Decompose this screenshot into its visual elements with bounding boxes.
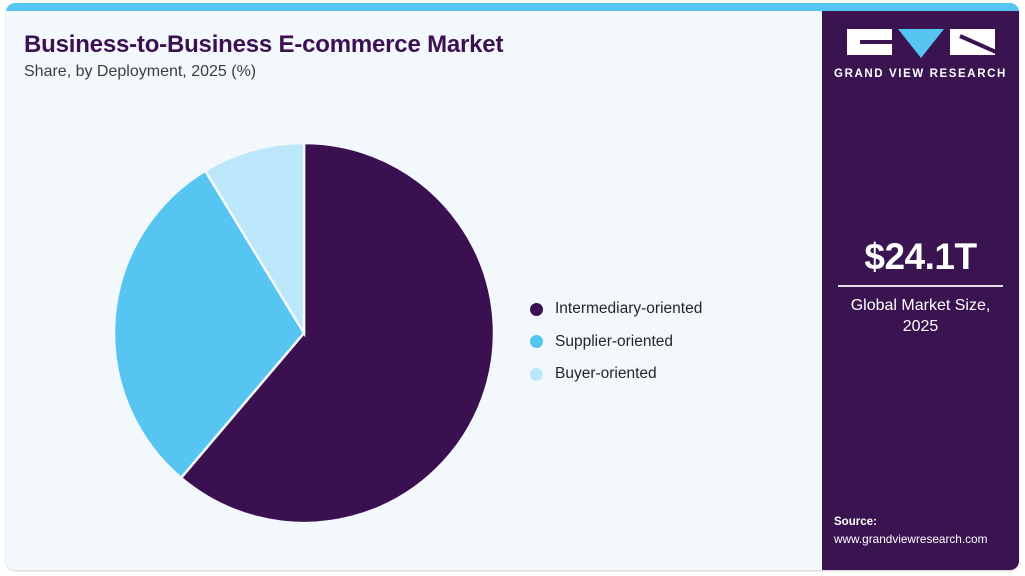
top-accent-bar <box>6 3 1019 11</box>
chart-main-area: Business-to-Business E-commerce Market S… <box>6 11 822 570</box>
chart-legend: Intermediary-oriented Supplier-oriented … <box>530 293 810 391</box>
legend-swatch-icon-supplier-oriented <box>530 335 543 348</box>
logo-r-icon <box>950 29 995 55</box>
legend-label-buyer-oriented: Buyer-oriented <box>555 365 657 383</box>
legend-item-intermediary-oriented[interactable]: Intermediary-oriented <box>530 293 810 326</box>
page-title: Business-to-Business E-commerce Market <box>24 31 503 59</box>
legend-label-intermediary-oriented: Intermediary-oriented <box>555 300 702 318</box>
brand-logo: GRAND VIEW RESEARCH <box>822 29 1019 80</box>
logo-v-triangle-icon <box>898 29 944 58</box>
legend-label-supplier-oriented: Supplier-oriented <box>555 333 673 351</box>
brand-side-panel: GRAND VIEW RESEARCH $24.1T Global Market… <box>822 11 1019 570</box>
stat-divider <box>838 285 1003 287</box>
logo-g-icon <box>847 29 892 55</box>
legend-item-buyer-oriented[interactable]: Buyer-oriented <box>530 358 810 391</box>
pie-chart <box>106 135 502 531</box>
source-url[interactable]: www.grandviewresearch.com <box>834 531 1014 548</box>
pie-chart-svg <box>106 135 502 531</box>
legend-swatch-icon-intermediary-oriented <box>530 303 543 316</box>
source-label: Source: <box>834 514 1014 531</box>
legend-swatch-icon-buyer-oriented <box>530 368 543 381</box>
logo-wordmark: GRAND VIEW RESEARCH <box>822 68 1019 80</box>
source-block: Source: www.grandviewresearch.com <box>834 514 1014 548</box>
legend-item-supplier-oriented[interactable]: Supplier-oriented <box>530 326 810 359</box>
chart-card: Business-to-Business E-commerce Market S… <box>6 3 1019 570</box>
market-size-caption: Global Market Size, 2025 <box>834 295 1007 338</box>
market-size-value: $24.1T <box>834 237 1007 278</box>
logo-marks <box>822 29 1019 59</box>
page-subtitle: Share, by Deployment, 2025 (%) <box>24 63 256 81</box>
market-size-stat: $24.1T Global Market Size, 2025 <box>834 237 1007 338</box>
